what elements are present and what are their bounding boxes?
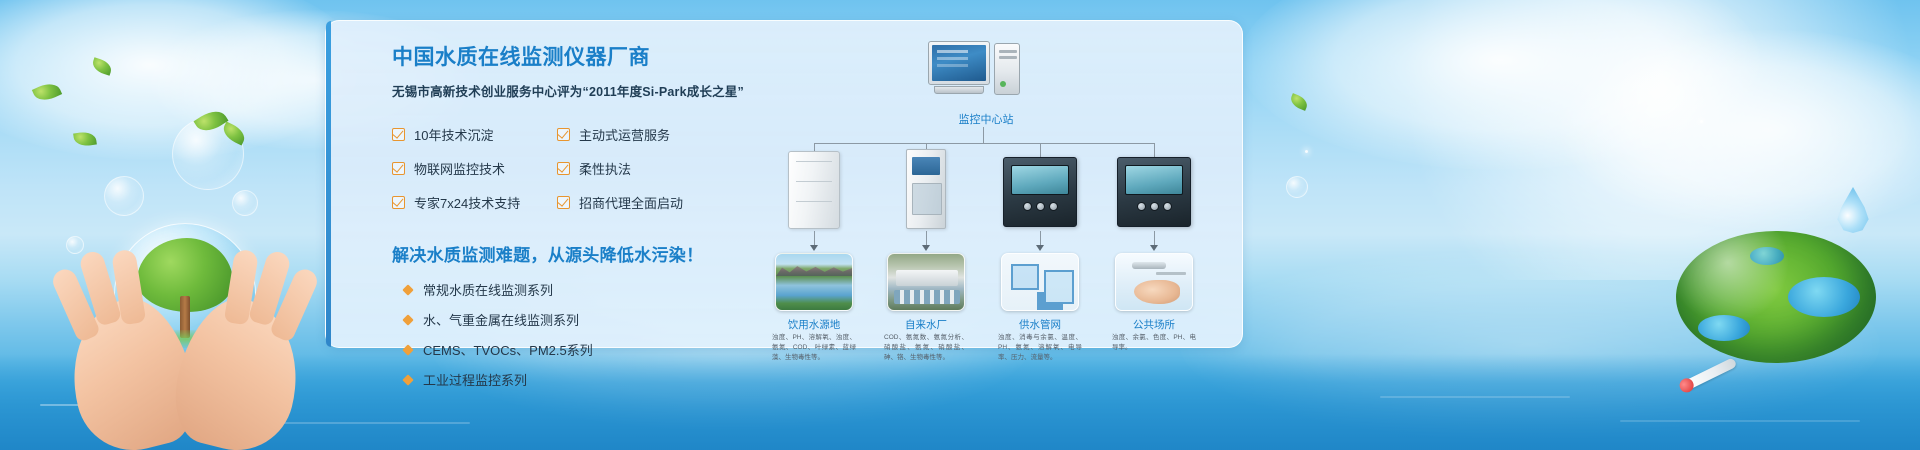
checkbox-checked-icon: [392, 162, 405, 175]
device-controller-b: [1117, 157, 1191, 227]
diamond-bullet-icon: [402, 284, 413, 295]
pc-tower-icon: [994, 43, 1020, 95]
checkbox-checked-icon: [557, 128, 570, 141]
lcd-screen: [1011, 165, 1069, 195]
leaf-decor: [220, 121, 248, 145]
list-item[interactable]: 工业过程监控系列: [392, 370, 742, 389]
thumbnail-description: 浊度、消毒与余氯、温度、PH、氨氮、溶解氧、电导率、压力、流量等。: [998, 333, 1082, 363]
thermometer-icon: [1683, 357, 1738, 391]
feature-checklist: 10年技术沉淀 主动式运营服务 物联网监控技术 柔性执法 专家7x24技术支持 …: [392, 125, 742, 212]
checklist-item[interactable]: 主动式运营服务: [557, 125, 732, 144]
device-button: [1137, 202, 1146, 211]
checklist-item-label: 10年技术沉淀: [414, 125, 493, 144]
thumbnail-description: COD、氨氮数、氨氮分析、硝酸盐、氨氮、硝酸盐、砷、铬、生物毒性等。: [884, 333, 968, 363]
thumbnail-caption: 自来水厂: [880, 317, 972, 332]
list-item-label: 水、气重金属在线监测系列: [423, 310, 579, 329]
thumbnail-public-places[interactable]: [1115, 253, 1193, 311]
list-item-label: 工业过程监控系列: [423, 370, 527, 389]
device-button: [1023, 202, 1032, 211]
monitor-base: [934, 86, 984, 94]
monitoring-center-label: 监控中心站: [886, 111, 1086, 127]
list-item[interactable]: 常规水质在线监测系列: [392, 280, 742, 299]
device-row: [756, 149, 1226, 229]
device-button: [1049, 202, 1058, 211]
checklist-item-label: 主动式运营服务: [579, 125, 670, 144]
cloud-decor: [0, 0, 360, 160]
scenario-thumbnails: 饮用水源地 浊度、PH、溶解氧、浊度、氨氮、COD、叶绿素、蓝绿藻、生物毒性等。…: [756, 253, 1226, 315]
checklist-item[interactable]: 柔性执法: [557, 159, 732, 178]
device-button: [1036, 202, 1045, 211]
bubble-decor: [104, 176, 144, 216]
leaf-decor: [194, 105, 229, 136]
page-title: 中国水质在线监测仪器厂商: [392, 41, 742, 71]
checklist-item[interactable]: 专家7x24技术支持: [392, 193, 557, 212]
thumbnail-caption: 公共场所: [1108, 317, 1200, 332]
leaf-decor: [73, 131, 97, 148]
thumbnail-drinking-water-source[interactable]: [775, 253, 853, 311]
arrow-down-icon: [922, 245, 930, 251]
arrow-down-icon: [1150, 245, 1158, 251]
arrow-down-icon: [810, 245, 818, 251]
earth-sea: [1698, 315, 1750, 341]
sparkle-decor: [1305, 150, 1308, 153]
list-item[interactable]: 水、气重金属在线监测系列: [392, 310, 742, 329]
device-button: [1150, 202, 1159, 211]
water-streak: [1620, 420, 1860, 422]
bubble-decor: [232, 190, 258, 216]
diamond-bullet-icon: [402, 344, 413, 355]
device-button: [1163, 202, 1172, 211]
checkbox-checked-icon: [392, 128, 405, 141]
cloud-decor: [1240, 0, 1760, 170]
checklist-item-label: 专家7x24技术支持: [414, 193, 520, 212]
thumbnail-water-plant[interactable]: [887, 253, 965, 311]
checkbox-checked-icon: [557, 196, 570, 209]
checkbox-checked-icon: [557, 162, 570, 175]
cabinet-analyzer-icon: [788, 151, 840, 229]
section-subheading: 解决水质监测难题，从源头降低水污染！: [392, 241, 742, 266]
diamond-bullet-icon: [402, 374, 413, 385]
panel-left-accent-bar: [326, 21, 331, 347]
earth-sea: [1750, 247, 1784, 265]
green-earth: [1676, 231, 1876, 363]
hands-holding-globe-illustration: [70, 215, 300, 450]
checklist-item[interactable]: 物联网监控技术: [392, 159, 557, 178]
monitor-screen: [932, 45, 986, 81]
thumbnail-description: 浊度、PH、溶解氧、浊度、氨氮、COD、叶绿素、蓝绿藻、生物毒性等。: [772, 333, 856, 363]
controller-icon: [1003, 157, 1077, 227]
checklist-item-label: 柔性执法: [579, 159, 631, 178]
list-item-label: 常规水质在线监测系列: [423, 280, 553, 299]
leaf-decor: [1288, 93, 1309, 111]
device-controller-a: [1003, 157, 1077, 227]
connector-line: [814, 143, 1154, 144]
controller-icon: [1117, 157, 1191, 227]
device-water-cabinet: [788, 151, 840, 229]
list-item[interactable]: CEMS、TVOCs、PM2.5系列: [392, 340, 742, 359]
list-item-label: CEMS、TVOCs、PM2.5系列: [423, 340, 593, 359]
button-row: [1125, 202, 1183, 211]
earth-sea: [1788, 277, 1860, 317]
cloud-decor: [1560, 30, 1920, 230]
checklist-item[interactable]: 招商代理全面启动: [557, 193, 732, 212]
checklist-item-label: 物联网监控技术: [414, 159, 505, 178]
sparkle-decor: [1700, 120, 1703, 123]
product-series-list: 常规水质在线监测系列 水、气重金属在线监测系列 CEMS、TVOCs、PM2.5…: [392, 280, 742, 389]
connector-line: [983, 127, 984, 143]
leaf-decor: [32, 79, 62, 104]
leaf-decor: [90, 57, 113, 76]
rack-analyzer-icon: [906, 149, 946, 229]
thumbnail-caption: 饮用水源地: [768, 317, 860, 332]
checkbox-checked-icon: [392, 196, 405, 209]
main-content-panel: 中国水质在线监测仪器厂商 无锡市高新技术创业服务中心评为“2011年度Si-Pa…: [325, 20, 1243, 348]
water-droplet-icon: [1836, 187, 1870, 233]
lcd-screen: [1125, 165, 1183, 195]
bubble-decor: [1286, 176, 1308, 198]
thumbnail-caption: 供水管网: [994, 317, 1086, 332]
button-row: [1011, 202, 1069, 211]
text-column: 中国水质在线监测仪器厂商 无锡市高新技术创业服务中心评为“2011年度Si-Pa…: [392, 41, 742, 400]
system-architecture-diagram: 监控中心站: [756, 31, 1226, 343]
thumbnail-water-pipe-network[interactable]: [1001, 253, 1079, 311]
thumbnail-description: 浊度、余氯、色度、PH、电导率。: [1112, 333, 1196, 353]
checklist-item[interactable]: 10年技术沉淀: [392, 125, 557, 144]
monitor-icon: [928, 41, 990, 85]
diamond-bullet-icon: [402, 314, 413, 325]
monitoring-center-computer: [928, 41, 1038, 97]
checklist-item-label: 招商代理全面启动: [579, 193, 683, 212]
device-rack-analyzer: [906, 149, 946, 229]
bubble-decor: [172, 118, 244, 190]
page-subtitle: 无锡市高新技术创业服务中心评为“2011年度Si-Park成长之星”: [392, 81, 742, 100]
water-streak: [1380, 396, 1570, 398]
earth-illustration: [1676, 215, 1886, 395]
arrow-down-icon: [1036, 245, 1044, 251]
